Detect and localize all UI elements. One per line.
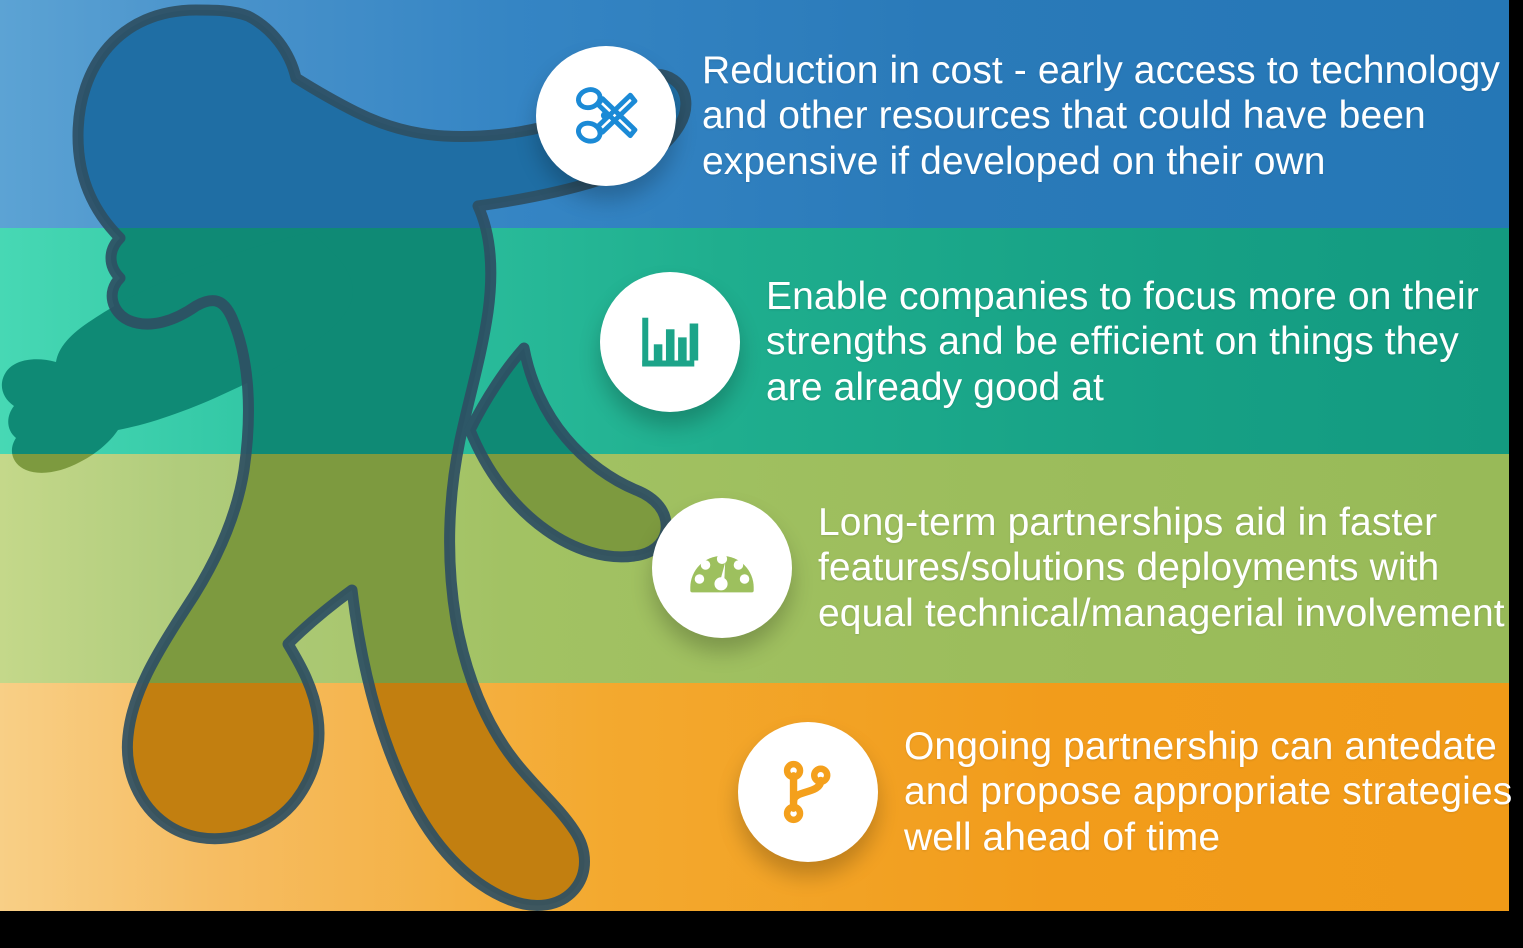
- benefit-text-4: Ongoing partnership can antedate and pro…: [904, 724, 1512, 860]
- benefit-text-3-line-3: equal technical/managerial involvement: [818, 591, 1505, 636]
- benefit-row-2: Enable companies to focus more on their …: [600, 272, 1501, 412]
- benefit-text-2-line-1: Enable companies to focus more on their: [766, 274, 1501, 319]
- scissors-badge: [536, 46, 676, 186]
- benefit-text-3-line-1: Long-term partnerships aid in faster: [818, 500, 1505, 545]
- benefit-row-3: Long-term partnerships aid in faster fea…: [652, 498, 1501, 638]
- benefit-text-3-line-2: features/solutions deployments with: [818, 545, 1505, 590]
- benefit-text-4-line-2: and propose appropriate strategies: [904, 769, 1512, 814]
- benefit-text-1: Reduction in cost - early access to tech…: [702, 48, 1501, 184]
- infographic-canvas: Reduction in cost - early access to tech…: [0, 0, 1523, 948]
- benefit-row-4: Ongoing partnership can antedate and pro…: [738, 722, 1501, 862]
- benefit-text-2-line-2: strengths and be efficient on things the…: [766, 319, 1501, 364]
- benefit-row-1: Reduction in cost - early access to tech…: [536, 46, 1501, 186]
- benefit-text-2-line-3: are already good at: [766, 365, 1501, 410]
- bar-chart-icon: [633, 305, 707, 379]
- benefit-text-1-line-2: and other resources that could have been: [702, 93, 1501, 138]
- benefit-text-2: Enable companies to focus more on their …: [766, 274, 1501, 410]
- scissors-icon: [569, 79, 643, 153]
- git-branch-icon: [771, 755, 845, 829]
- benefit-text-4-line-1: Ongoing partnership can antedate: [904, 724, 1512, 769]
- speedometer-icon: [683, 529, 761, 607]
- benefit-text-4-line-3: well ahead of time: [904, 815, 1512, 860]
- benefit-text-3: Long-term partnerships aid in faster fea…: [818, 500, 1505, 636]
- git-branch-badge: [738, 722, 878, 862]
- benefit-text-1-line-3: expensive if developed on their own: [702, 139, 1501, 184]
- speedometer-badge: [652, 498, 792, 638]
- benefit-text-1-line-1: Reduction in cost - early access to tech…: [702, 48, 1501, 93]
- bar-chart-badge: [600, 272, 740, 412]
